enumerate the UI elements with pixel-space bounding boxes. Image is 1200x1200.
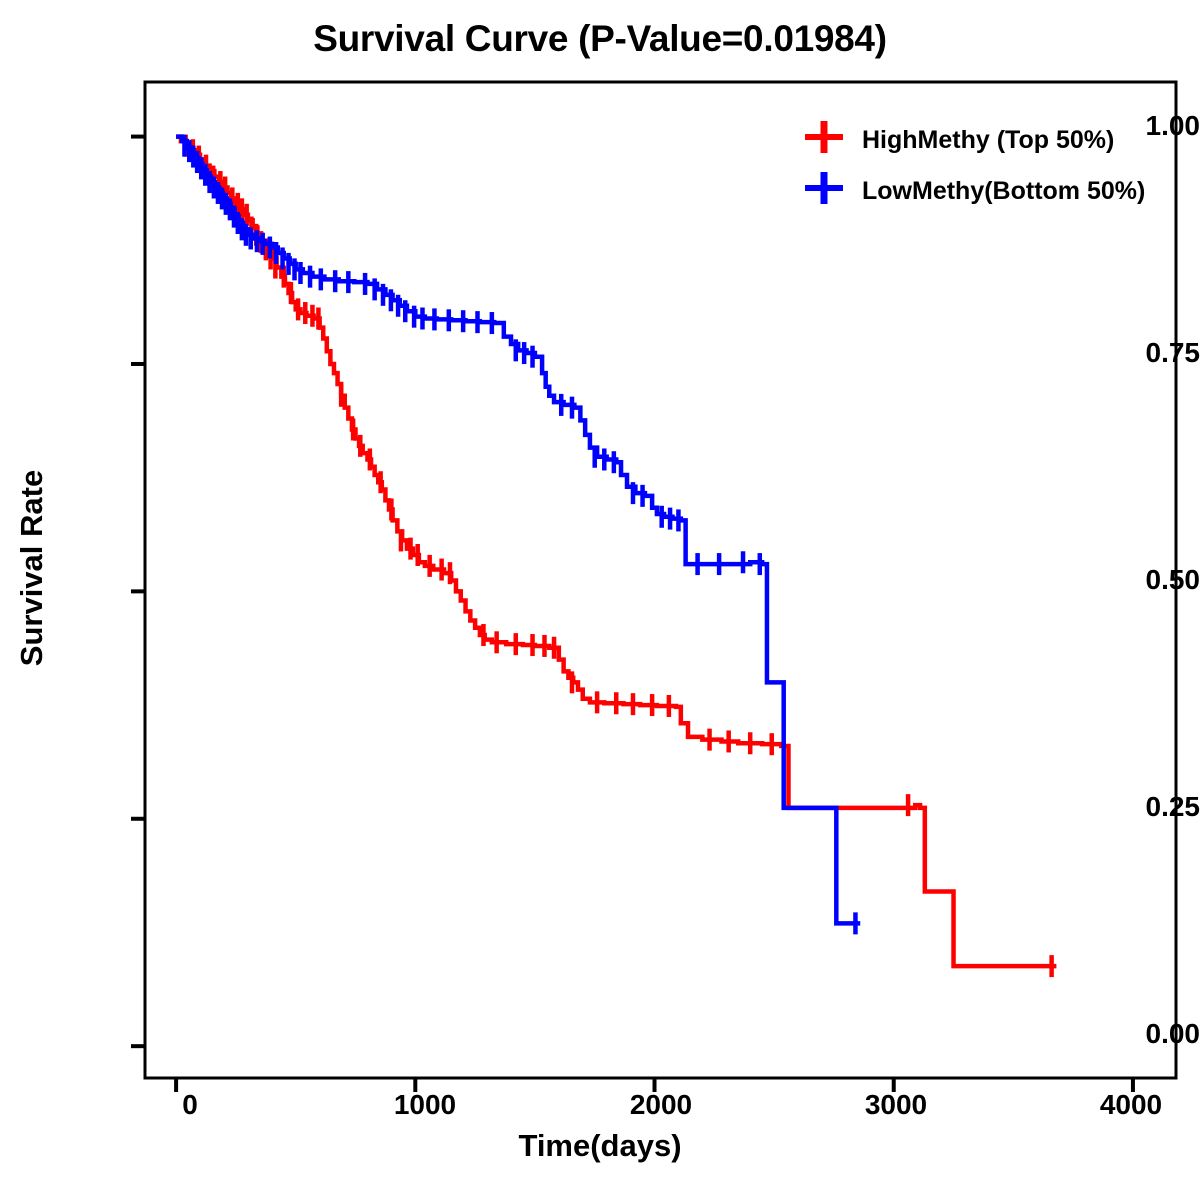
plot-area [0, 0, 1200, 1200]
series-highmethy [176, 135, 1056, 977]
survival-curve-figure: Survival Curve (P-Value=0.01984) Surviva… [0, 0, 1200, 1200]
series-layer [176, 135, 1056, 977]
series-lowmethy [176, 135, 860, 935]
legend-markers [805, 121, 843, 204]
axis-ticks [131, 137, 1133, 1092]
step-line [176, 137, 1056, 967]
step-line [176, 137, 860, 924]
plot-border [145, 82, 1176, 1078]
